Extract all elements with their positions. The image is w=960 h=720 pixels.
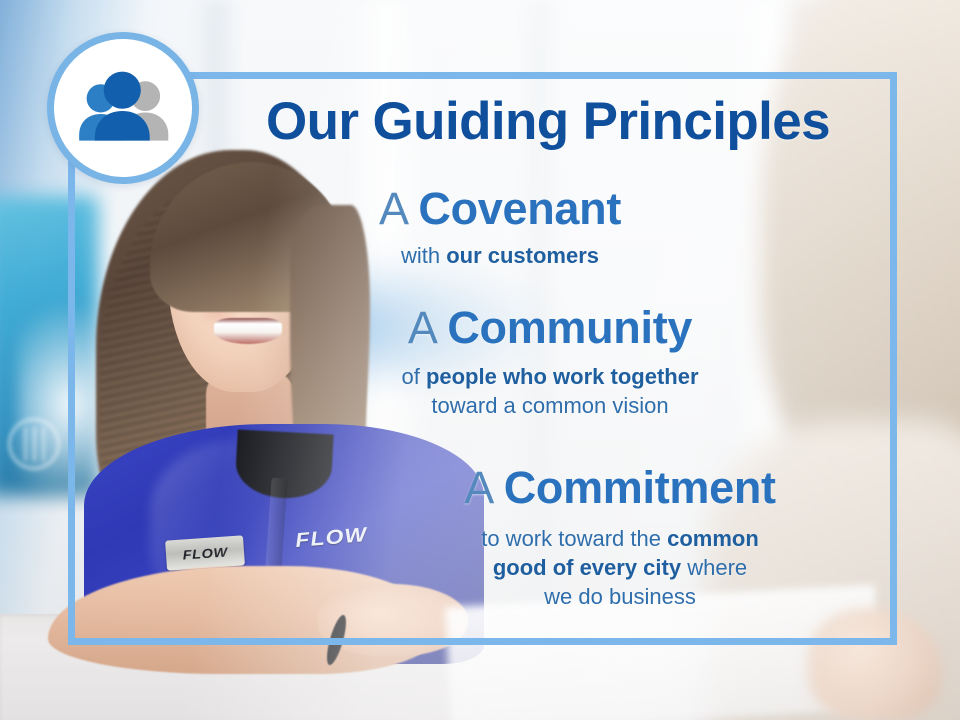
principle-commitment: A Commitment to work toward the commongo… bbox=[380, 462, 860, 611]
people-badge bbox=[47, 32, 199, 184]
principle-community-subtitle: of people who work togethertoward a comm… bbox=[300, 362, 800, 420]
principle-community-sub-part-1: people who work together bbox=[426, 364, 699, 389]
principle-community-keyword: Community bbox=[447, 302, 692, 353]
principle-covenant-subtitle: with our customers bbox=[250, 241, 750, 270]
principle-commitment-keyword: Commitment bbox=[504, 462, 776, 513]
principle-covenant-sub-part-0: with bbox=[401, 243, 446, 268]
principle-community: A Community of people who work togethert… bbox=[300, 302, 800, 420]
group-of-people-icon bbox=[71, 69, 175, 147]
principle-covenant-title: A Covenant bbox=[250, 183, 750, 235]
principle-covenant-sub-part-1: our customers bbox=[446, 243, 599, 268]
principle-covenant-article: A bbox=[379, 183, 406, 234]
guiding-principles-graphic: FLOW FLOW Our Guiding Principles A bbox=[0, 0, 960, 720]
associate-smile bbox=[214, 318, 282, 344]
principle-commitment-sub-part-0: to work toward the bbox=[481, 526, 667, 551]
principle-commitment-article: A bbox=[464, 462, 491, 513]
name-badge-text: FLOW bbox=[182, 544, 228, 562]
customer-hand bbox=[808, 608, 940, 720]
principle-covenant: A Covenant with our customers bbox=[250, 183, 750, 270]
principle-covenant-keyword: Covenant bbox=[418, 183, 621, 234]
principle-commitment-subtitle: to work toward the commongood of every c… bbox=[380, 524, 860, 611]
principle-community-sub-part-0: of bbox=[401, 364, 425, 389]
principle-community-title: A Community bbox=[300, 302, 800, 354]
page-title: Our Guiding Principles bbox=[213, 92, 883, 152]
principle-community-sub-part-2: toward a common vision bbox=[431, 393, 668, 418]
principle-commitment-title: A Commitment bbox=[380, 462, 860, 514]
principle-community-article: A bbox=[408, 302, 435, 353]
